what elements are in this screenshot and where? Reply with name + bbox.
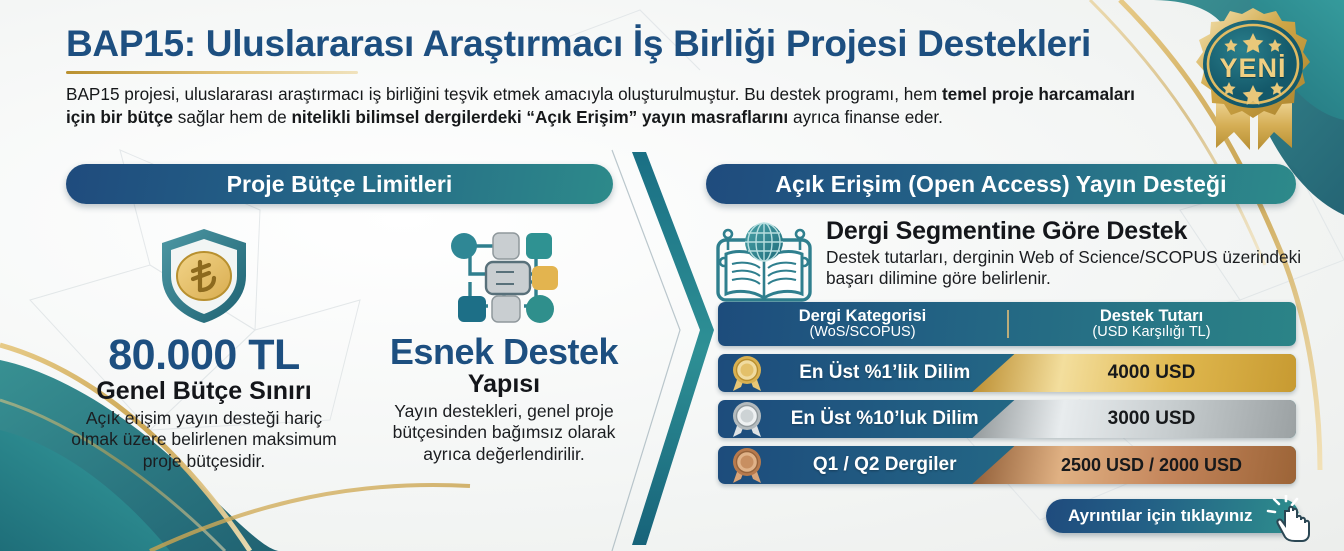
card-subheadline: Yapısı (354, 371, 654, 397)
intro-part-1: BAP15 projesi, uluslararası araştırmacı … (66, 84, 942, 104)
bronze-medal-icon (720, 446, 774, 484)
segment-heading: Dergi Segmentine Göre Destek (826, 218, 1302, 244)
column-subtitle: (WoS/SCOPUS) (718, 325, 1007, 340)
cta-label: Ayrıntılar için tıklayınız (1068, 506, 1253, 526)
segment-header-block: Dergi Segmentine Göre Destek Destek tuta… (712, 218, 1302, 309)
support-amount-table: Dergi Kategorisi (WoS/SCOPUS) Destek Tut… (718, 302, 1296, 484)
intro-paragraph: BAP15 projesi, uluslararası araştırmacı … (66, 83, 1141, 128)
card-description: Açık erişim yayın desteği hariç olmak üz… (70, 408, 338, 472)
column-subtitle: (USD Karşılığı TL) (1007, 325, 1296, 340)
header-block: BAP15: Uluslararası Araştırmacı İş Birli… (66, 24, 1156, 128)
column-title: Dergi Kategorisi (718, 308, 1007, 325)
details-link-button[interactable]: Ayrıntılar için tıklayınız (1046, 499, 1299, 533)
card-headline: 80.000 TL (54, 334, 354, 377)
card-flexible-support: Esnek Destek Yapısı Yayın destekleri, ge… (354, 222, 654, 472)
table-row: En Üst %1’lik Dilim 4000 USD (718, 354, 1296, 392)
section-title-open-access: Açık Erişim (Open Access) Yayın Desteği (706, 164, 1296, 204)
shield-lira-icon (54, 222, 354, 330)
left-cards-group: 80.000 TL Genel Bütçe Sınırı Açık erişim… (54, 222, 654, 472)
click-hand-icon (1265, 495, 1321, 543)
row-amount: 3000 USD (1007, 408, 1296, 430)
table-row: En Üst %10’luk Dilim 3000 USD (718, 400, 1296, 438)
network-nodes-icon (354, 222, 654, 330)
new-badge: YENİ (1172, 4, 1334, 154)
table-column-category: Dergi Kategorisi (WoS/SCOPUS) (718, 308, 1007, 340)
row-amount: 4000 USD (1007, 362, 1296, 384)
intro-part-3: ayrıca finanse eder. (788, 107, 943, 127)
badge-label: YENİ (1172, 53, 1334, 84)
page-title: BAP15: Uluslararası Araştırmacı İş Birli… (66, 24, 1156, 64)
intro-bold-2: nitelikli bilimsel dergilerdeki “Açık Er… (291, 107, 788, 127)
silver-medal-icon (720, 400, 774, 438)
card-description: Yayın destekleri, genel proje bütçesinde… (378, 401, 630, 465)
section-title-project-budget: Proje Bütçe Limitleri (66, 164, 613, 204)
table-row: Q1 / Q2 Dergiler 2500 USD / 2000 USD (718, 446, 1296, 484)
header-divider (1007, 310, 1009, 338)
segment-paragraph: Destek tutarları, derginin Web of Scienc… (826, 247, 1302, 289)
card-subheadline: Genel Bütçe Sınırı (54, 378, 354, 404)
row-amount: 2500 USD / 2000 USD (1007, 455, 1296, 476)
gold-medal-icon (720, 354, 774, 392)
intro-part-2: sağlar hem de (173, 107, 291, 127)
table-column-amount: Destek Tutarı (USD Karşılığı TL) (1007, 308, 1296, 340)
table-header-row: Dergi Kategorisi (WoS/SCOPUS) Destek Tut… (718, 302, 1296, 346)
column-title: Destek Tutarı (1007, 308, 1296, 325)
open-book-globe-icon (712, 218, 820, 309)
title-underline (66, 71, 358, 74)
card-general-budget: 80.000 TL Genel Bütçe Sınırı Açık erişim… (54, 222, 354, 472)
infographic-canvas: BAP15: Uluslararası Araştırmacı İş Birli… (0, 0, 1344, 551)
card-headline: Esnek Destek (354, 334, 654, 370)
